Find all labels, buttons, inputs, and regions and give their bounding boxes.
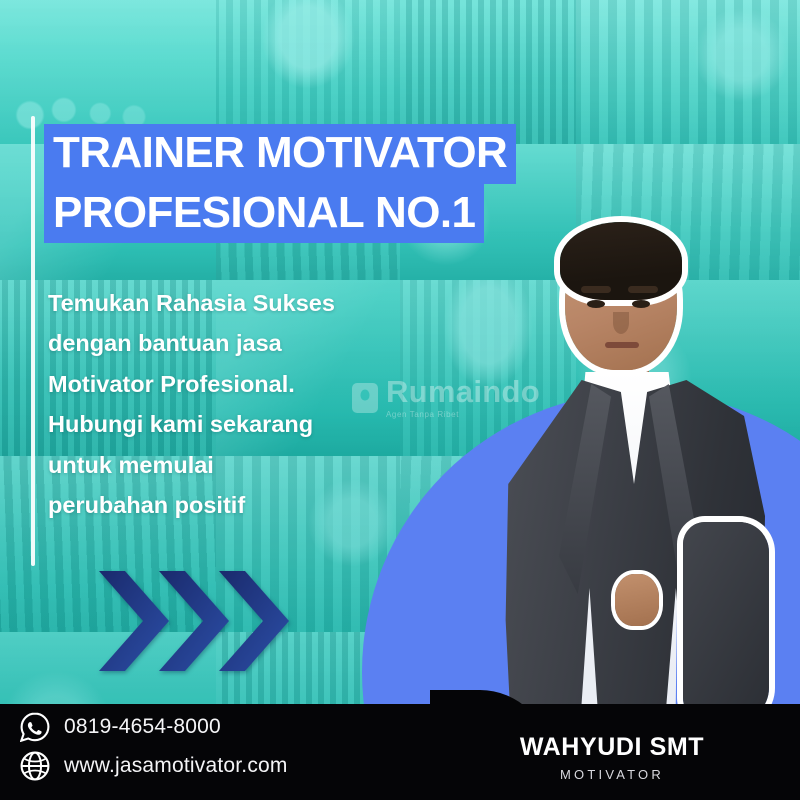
- subject-eye-left: [587, 300, 605, 308]
- subcopy-line-6: perubahan positif: [48, 485, 478, 525]
- website-url[interactable]: www.jasamotivator.com: [64, 754, 288, 778]
- subject-nose: [613, 312, 629, 334]
- subcopy-line-4: Hubungi kami sekarang: [48, 404, 478, 444]
- left-accent-rule: [31, 116, 35, 566]
- contact-row-phone[interactable]: 0819-4654-8000: [20, 712, 288, 742]
- subject-hair: [560, 222, 682, 300]
- headline-line-2: PROFESIONAL NO.1: [44, 184, 484, 244]
- subcopy-line-2: dengan bantuan jasa: [48, 323, 478, 363]
- brand-name: WAHYUDI SMT: [452, 734, 772, 762]
- whatsapp-icon[interactable]: [20, 712, 50, 742]
- subject-mouth: [605, 342, 639, 348]
- promo-poster: Rumaindo Agen Tanpa Ribet TRAINER MOTIVA…: [0, 0, 800, 800]
- subject-eyebrow-left: [581, 286, 611, 293]
- phone-number[interactable]: 0819-4654-8000: [64, 715, 221, 739]
- brand-signature-block: WAHYUDI SMT MOTIVATOR: [452, 734, 772, 782]
- subcopy-line-5: untuk memulai: [48, 445, 478, 485]
- subject-eyebrow-right: [628, 286, 658, 293]
- globe-icon[interactable]: [20, 751, 50, 781]
- chevron-right-icon: [215, 565, 293, 677]
- motivator-photo-cutout: [497, 222, 777, 782]
- headline-line-1: TRAINER MOTIVATOR: [44, 124, 516, 184]
- subject-sleeve-right: [683, 522, 769, 722]
- subject-hand-upper: [615, 574, 659, 626]
- subcopy-line-1: Temukan Rahasia Sukses: [48, 283, 478, 323]
- subcopy-line-3: Motivator Profesional.: [48, 364, 478, 404]
- brand-role: MOTIVATOR: [452, 767, 772, 782]
- contact-row-website[interactable]: www.jasamotivator.com: [20, 751, 288, 781]
- subject-eye-right: [632, 300, 650, 308]
- subcopy-block: Temukan Rahasia Sukses dengan bantuan ja…: [48, 283, 478, 525]
- chevron-arrow-group: [95, 565, 275, 677]
- contact-block: 0819-4654-8000 www.jasamotivator.com: [20, 712, 288, 781]
